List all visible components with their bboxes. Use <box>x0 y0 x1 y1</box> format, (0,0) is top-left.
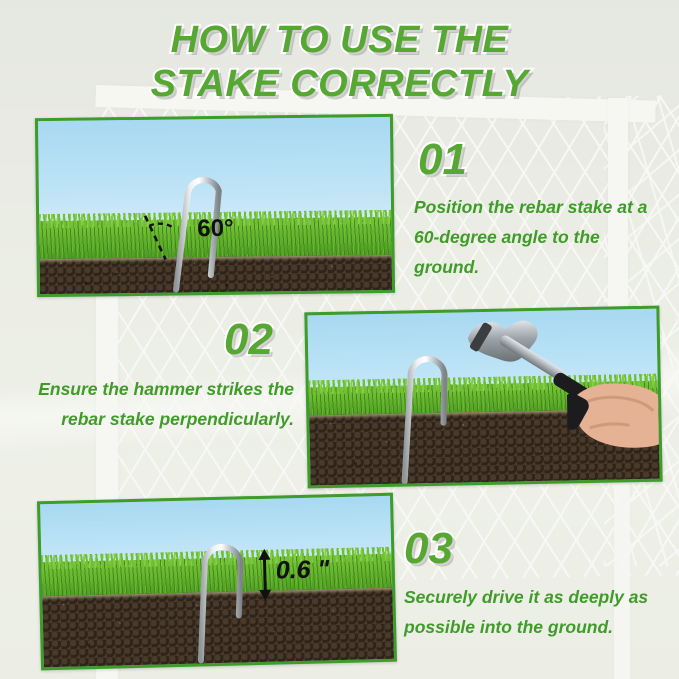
hand-icon <box>566 364 662 466</box>
step-3-number: 03 <box>404 527 453 571</box>
angle-label-60: 60° <box>197 215 234 243</box>
step-2-photo <box>304 306 662 489</box>
step-3-text: Securely drive it as deeply as possible … <box>404 582 672 642</box>
step-2-text: Ensure the hammer strikes the rebar stak… <box>20 374 294 434</box>
step-2-number: 02 <box>224 318 273 362</box>
rebar-stake-vertical <box>390 350 472 482</box>
measurement-arrow <box>253 549 276 602</box>
page-title: HOW TO USE THE STAKE CORRECTLY <box>0 18 679 106</box>
step-1-photo: 60° <box>35 114 395 297</box>
step-1-text: Position the rebar stake at a 60-degree … <box>414 192 666 282</box>
step-3-photo: 0.6 " <box>37 493 397 671</box>
measurement-label: 0.6 " <box>275 555 329 585</box>
angle-dash-line <box>139 211 202 264</box>
page-title-line-1: HOW TO USE THE <box>0 18 679 62</box>
infographic-canvas: HOW TO USE THE STAKE CORRECTLY <box>0 0 679 679</box>
step-1-number: 01 <box>418 138 467 182</box>
page-title-line-2: STAKE CORRECTLY <box>0 62 679 106</box>
